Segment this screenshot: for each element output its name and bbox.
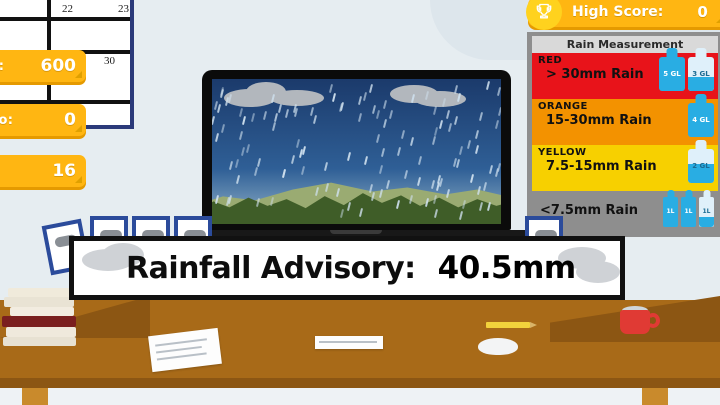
rain-measurement-legend: Rain Measurement RED > 30mm Rain 5 GL 3 … — [527, 32, 720, 237]
high-score-bar: High Score: 0 — [528, 0, 720, 27]
rain-drop — [291, 155, 295, 164]
high-score-label: High Score: — [572, 4, 663, 20]
legend-jug-group: 2 GL — [688, 149, 714, 183]
rain-intensity-card-row: Moderate/Light Yellow Heavy — [0, 312, 720, 392]
jug-capacity: 4 GL — [688, 116, 714, 124]
banner-text: Rainfall Advisory: 40.5mm — [74, 250, 576, 286]
rain-drop — [461, 200, 465, 209]
book — [8, 288, 70, 297]
rain-drop — [347, 202, 351, 211]
rain-drop — [376, 110, 380, 119]
rain-drop — [332, 93, 336, 102]
combo-display: Combo: 0 — [0, 104, 86, 136]
banner-inner: Rainfall Advisory: 40.5mm — [74, 241, 620, 295]
rain-drop — [324, 183, 328, 192]
score-value: 600 — [41, 56, 77, 76]
rain-drop — [296, 139, 300, 148]
rain-drop — [454, 116, 458, 125]
rain-drop — [272, 122, 276, 131]
rain-drop — [313, 115, 317, 124]
rain-drop — [453, 85, 457, 94]
rain-drop — [431, 180, 435, 189]
rain-drop — [483, 182, 487, 191]
water-jug-icon: 3 GL — [688, 57, 714, 91]
rain-drop — [336, 188, 340, 197]
time-display: Time: 16 — [0, 155, 86, 187]
water-bottle-icon: 1L — [681, 197, 696, 227]
rain-drop — [470, 174, 474, 183]
rain-drop — [358, 96, 362, 105]
legend-range: 15-30mm Rain — [538, 113, 712, 128]
water-bottle-icon: 1L — [663, 197, 678, 227]
high-score-value: 0 — [697, 3, 707, 21]
rain-drop — [495, 120, 499, 129]
jug-capacity: 5 GL — [659, 70, 685, 78]
rain-drop — [459, 146, 463, 155]
rain-drop — [446, 110, 450, 119]
rain-drop — [381, 148, 385, 157]
grid-number: 23 — [118, 3, 129, 15]
grid-number: 22 — [62, 3, 73, 15]
rain-drop — [417, 176, 421, 185]
rain-drop — [215, 133, 219, 142]
rain-drop — [433, 195, 437, 204]
rain-drop — [254, 166, 258, 175]
rain-drop — [263, 111, 267, 120]
rain-drop — [383, 100, 387, 109]
rain-drop — [239, 131, 243, 140]
rain-drop — [409, 195, 413, 204]
book — [4, 297, 74, 307]
rain-drop — [411, 94, 415, 103]
rain-drop — [324, 162, 328, 171]
rain-drop — [212, 116, 215, 125]
laptop — [202, 70, 511, 230]
rain-drop — [228, 94, 232, 103]
time-value: 16 — [52, 161, 76, 181]
rain-drop — [497, 163, 501, 172]
rain-drop — [239, 108, 243, 117]
rain-drop — [439, 120, 443, 129]
rain-drop — [475, 145, 479, 154]
water-jug-icon: 5 GL — [659, 57, 685, 91]
advisory-title: Rainfall Advisory: — [126, 251, 416, 286]
rain-drop — [315, 187, 319, 196]
rain-drop — [477, 186, 481, 195]
legend-level-name: ORANGE — [538, 101, 712, 112]
combo-value: 0 — [64, 110, 76, 130]
legend-jug-group: 4 GL — [688, 103, 714, 137]
bottle-capacity: 1L — [681, 208, 696, 215]
rain-drop — [215, 195, 219, 204]
rain-drop — [434, 127, 438, 136]
water-jug-icon: 4 GL — [688, 103, 714, 137]
rain-drop — [432, 136, 436, 145]
rain-drop — [363, 91, 367, 100]
rain-drop — [282, 169, 286, 178]
rain-drop — [448, 123, 452, 132]
rainfall-advisory-banner: Rainfall Advisory: 40.5mm — [69, 236, 625, 300]
rain-drop — [358, 112, 362, 121]
rain-drop — [278, 104, 282, 113]
rain-drop — [340, 209, 344, 218]
rain-drop — [242, 116, 246, 125]
rain-drop — [241, 147, 245, 156]
legend-level-name: YELLOW — [538, 147, 712, 158]
rain-drop — [396, 147, 400, 156]
legend-row-red: RED > 30mm Rain 5 GL 3 GL — [532, 53, 718, 99]
legend-jug-group: 1L 1L 1L — [663, 197, 714, 227]
rain-drop — [433, 106, 437, 115]
rain-drop — [364, 155, 368, 164]
rain-drop — [229, 160, 233, 169]
game-screen: 22 23 30 Score: 600 Combo: 0 Time: 16 Hi… — [0, 0, 720, 405]
rain-drop — [372, 105, 376, 114]
grid-number: 30 — [104, 55, 115, 67]
jug-capacity: 2 GL — [688, 162, 714, 170]
score-label: Score: — [0, 59, 4, 74]
advisory-value: 40.5mm — [438, 250, 576, 286]
rain-drop — [347, 152, 351, 161]
legend-jug-group: 5 GL 3 GL — [659, 57, 714, 91]
rain-drop — [309, 107, 313, 116]
rain-drop — [386, 180, 390, 189]
laptop-screen — [212, 79, 501, 224]
jug-capacity: 3 GL — [688, 70, 714, 78]
rain-drop — [498, 107, 501, 116]
rain-drop — [302, 146, 306, 155]
rain-drop — [434, 209, 438, 218]
rain-drop — [418, 156, 422, 165]
rain-drop — [217, 104, 221, 113]
rain-drop — [487, 202, 491, 211]
rain-drop — [359, 208, 363, 217]
rain-animation — [212, 79, 501, 224]
rain-drop — [457, 93, 461, 102]
legend-row-yellow: YELLOW 7.5-15mm Rain 2 GL — [532, 145, 718, 191]
rain-drop — [459, 211, 463, 220]
rain-drop — [301, 166, 305, 175]
cloud-icon — [576, 261, 620, 283]
rain-drop — [274, 113, 278, 122]
rain-drop — [389, 109, 393, 118]
rain-drop — [396, 200, 400, 209]
combo-label: Combo: — [0, 113, 13, 128]
rain-drop — [467, 140, 471, 149]
rain-drop — [442, 98, 446, 107]
water-jug-icon: 2 GL — [688, 149, 714, 183]
rain-drop — [425, 90, 429, 99]
grid-divider-horizontal — [0, 17, 130, 21]
rain-drop — [383, 118, 387, 127]
rain-drop — [257, 158, 261, 167]
water-bottle-icon: 1L — [699, 197, 714, 227]
rain-drop — [474, 130, 478, 139]
rain-drop — [220, 87, 224, 96]
rain-drop — [221, 124, 225, 133]
rain-drop — [404, 170, 408, 179]
rain-drop — [251, 113, 255, 122]
legend-range: 7.5-15mm Rain — [538, 159, 712, 174]
bottle-capacity: 1L — [699, 208, 714, 215]
rain-drop — [446, 189, 450, 198]
rain-drop — [479, 112, 483, 121]
rain-drop — [376, 134, 380, 143]
rain-drop — [401, 129, 405, 138]
laptop-trackpad-notch — [330, 230, 382, 234]
rain-drop — [235, 159, 239, 168]
rain-drop — [379, 189, 383, 198]
rain-drop — [329, 84, 333, 93]
rain-drop — [425, 198, 429, 207]
rain-drop — [371, 192, 375, 201]
rain-drop — [410, 137, 414, 146]
rain-drop — [270, 197, 274, 206]
legend-row-orange: ORANGE 15-30mm Rain 4 GL — [532, 99, 718, 145]
rain-drop — [271, 93, 275, 102]
rain-drop — [489, 164, 493, 173]
rain-drop — [497, 87, 501, 96]
rain-drop — [236, 175, 240, 184]
rain-drop — [285, 109, 289, 118]
rain-drop — [256, 198, 260, 207]
rain-drop — [369, 84, 373, 93]
bottle-capacity: 1L — [663, 208, 678, 215]
rain-drop — [246, 144, 250, 153]
score-display: Score: 600 — [0, 50, 86, 82]
legend-title: Rain Measurement — [532, 36, 718, 53]
trophy-icon — [526, 0, 562, 30]
rain-drop — [486, 80, 490, 89]
rain-drop — [479, 202, 483, 211]
rain-drop — [379, 165, 383, 174]
